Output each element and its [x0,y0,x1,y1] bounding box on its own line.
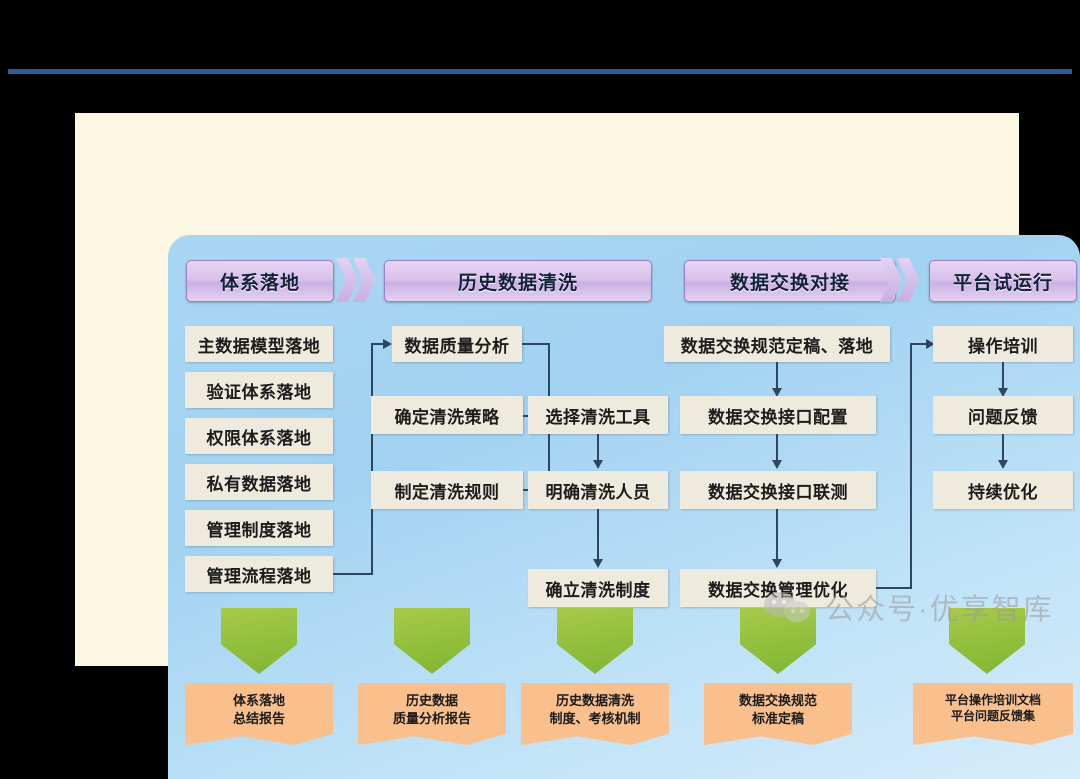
deliverable-arrow-3 [557,608,633,674]
connector-c2b-v1 [597,434,599,462]
deliverable-line-2: 标准定稿 [752,710,804,728]
task-box-c1-5[interactable]: 管理制度落地 [185,510,333,546]
connector-c3-v2 [776,434,778,462]
slide-frame: 体系落地 历史数据清洗 数据交换对接 平台试运行 主数据模型落地 验证体系落地 … [75,113,1019,666]
connector-c3-to-c4-v [910,343,912,588]
task-label: 数据交换管理优化 [708,576,848,601]
deliverable-note-4[interactable]: 数据交换规范 标准定稿 [704,683,852,745]
phase-chevron-2 [880,258,924,302]
task-label: 选择清洗工具 [546,403,651,428]
task-box-c3-2[interactable]: 数据交换接口配置 [680,396,876,434]
connector-c2-merge-top [522,343,550,345]
connector-c3-arrow2 [772,460,782,469]
deliverable-line-1: 历史数据清洗 [556,692,634,710]
deliverable-arrow-5 [949,608,1025,674]
phase-chevron-1 [336,258,380,302]
task-box-c4-1[interactable]: 操作培训 [933,326,1073,362]
deliverable-arrow-1 [221,608,297,674]
deliverable-line-1: 平台操作培训文档 [945,692,1041,708]
phase-header-4-label: 平台试运行 [953,268,1053,295]
connector-c2b-arrow1 [593,460,603,469]
task-label: 确定清洗策略 [395,403,500,428]
task-box-c1-6[interactable]: 管理流程落地 [185,556,333,592]
task-label: 数据交换规范定稿、落地 [681,332,874,357]
connector-c3-arrow3 [772,559,782,568]
task-label: 持续优化 [968,478,1038,503]
task-label: 数据质量分析 [405,332,510,357]
task-label: 私有数据落地 [207,470,312,495]
task-box-c2-5[interactable]: 明确清洗人员 [528,471,668,509]
task-label: 确立清洗制度 [546,576,651,601]
task-box-c3-1[interactable]: 数据交换规范定稿、落地 [664,326,890,362]
task-label: 问题反馈 [968,403,1038,428]
phase-header-2-label: 历史数据清洗 [458,268,578,295]
deliverable-note-5[interactable]: 平台操作培训文档 平台问题反馈集 [913,683,1073,745]
task-box-c1-1[interactable]: 主数据模型落地 [185,326,333,362]
task-box-c2-6[interactable]: 确立清洗制度 [528,569,668,607]
connector-c4-v2 [1002,434,1004,462]
phase-header-4[interactable]: 平台试运行 [929,260,1077,302]
deliverable-line-1: 历史数据 [406,692,458,710]
task-box-c1-4[interactable]: 私有数据落地 [185,464,333,500]
phase-header-2[interactable]: 历史数据清洗 [384,260,652,302]
task-box-c2-4[interactable]: 选择清洗工具 [528,396,668,434]
task-label: 主数据模型落地 [198,332,321,357]
deliverable-line-2: 总结报告 [233,710,285,728]
task-label: 制定清洗规则 [395,478,500,503]
task-box-c1-2[interactable]: 验证体系落地 [185,372,333,408]
deliverable-line-2: 平台问题反馈集 [951,708,1035,724]
task-box-c2-3[interactable]: 制定清洗规则 [371,471,523,509]
task-label: 操作培训 [968,332,1038,357]
task-box-c4-2[interactable]: 问题反馈 [933,396,1073,434]
task-label: 管理流程落地 [207,562,312,587]
connector-c1-to-c2-v [371,343,373,575]
task-box-c2-1[interactable]: 数据质量分析 [392,326,522,362]
deliverable-arrow-2 [394,608,470,674]
connector-c4-v1 [1002,362,1004,390]
deliverable-line-1: 体系落地 [233,692,285,710]
deliverable-note-1[interactable]: 体系落地 总结报告 [185,683,333,745]
task-box-c4-3[interactable]: 持续优化 [933,471,1073,509]
deliverable-line-2: 质量分析报告 [393,710,471,728]
phase-header-1-label: 体系落地 [220,268,300,295]
diagram-panel: 体系落地 历史数据清洗 数据交换对接 平台试运行 主数据模型落地 验证体系落地 … [168,235,1080,779]
connector-c3-v1 [776,362,778,390]
task-label: 管理制度落地 [207,516,312,541]
deliverable-arrow-4 [740,608,816,674]
task-label: 权限体系落地 [207,424,312,449]
task-label: 数据交换接口配置 [708,403,848,428]
task-box-c2-2[interactable]: 确定清洗策略 [371,396,523,434]
deliverable-note-2[interactable]: 历史数据 质量分析报告 [358,683,506,745]
phase-header-3-label: 数据交换对接 [730,268,850,295]
phase-header-3[interactable]: 数据交换对接 [684,260,896,302]
task-label: 数据交换接口联测 [708,478,848,503]
connector-c4-arrow2 [998,460,1008,469]
connector-c2b-arrow2 [593,559,603,568]
task-box-c3-4[interactable]: 数据交换管理优化 [680,569,876,607]
phase-header-1[interactable]: 体系落地 [186,260,334,302]
task-box-c3-3[interactable]: 数据交换接口联测 [680,471,876,509]
deliverable-line-2: 制度、考核机制 [549,710,640,728]
connector-c1-to-c2-h1 [333,573,373,575]
task-box-c1-3[interactable]: 权限体系落地 [185,418,333,454]
deliverable-line-1: 数据交换规范 [739,692,817,710]
connector-c2b-v2 [597,509,599,561]
connector-c3-v3 [776,509,778,561]
deliverable-note-3[interactable]: 历史数据清洗 制度、考核机制 [521,683,669,745]
task-label: 明确清洗人员 [546,478,651,503]
task-label: 验证体系落地 [207,378,312,403]
connector-c3-to-c4-h1 [876,587,912,589]
connector-c1-to-c2-arrowhead [383,339,392,349]
top-divider-rule [8,69,1072,74]
